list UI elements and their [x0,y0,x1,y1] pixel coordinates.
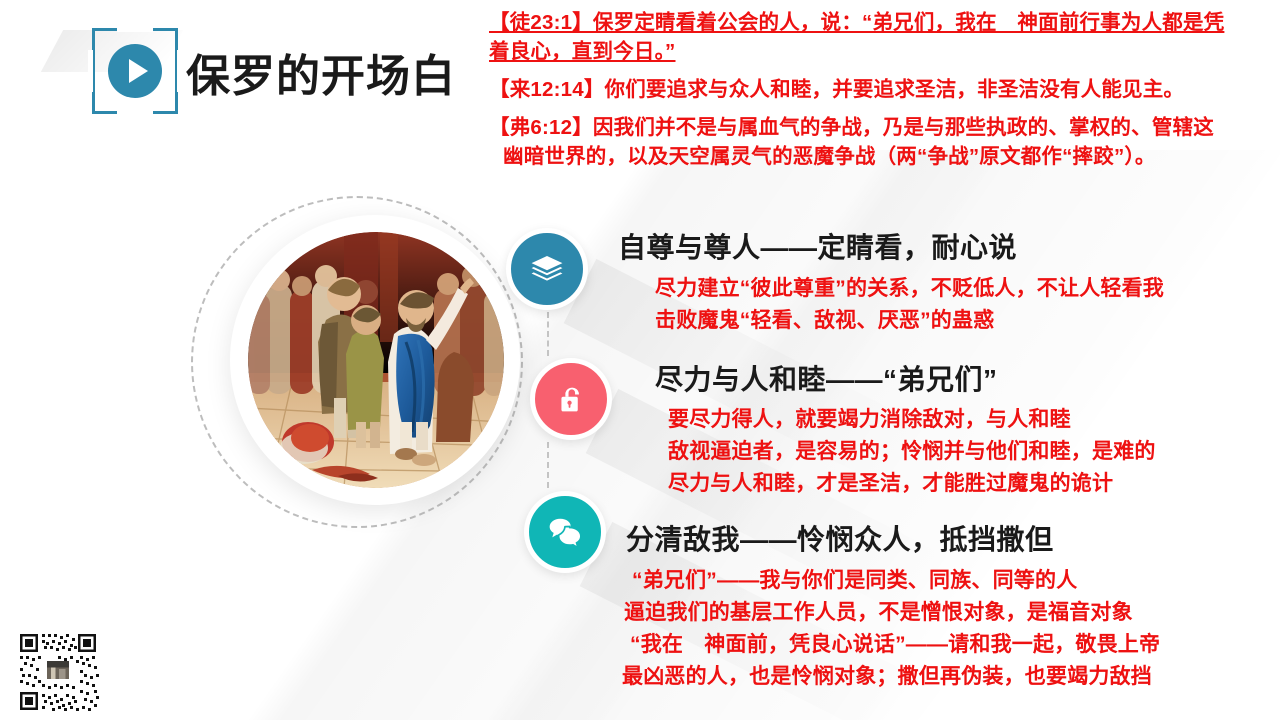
qr-code-icon[interactable] [14,628,102,716]
speech-bubbles-icon[interactable] [524,491,606,573]
feature-3-body: “弟兄们”——我与你们是同类、同族、同等的人 逼迫我们的基层工作人员，不是憎恨对… [632,567,1160,695]
connector-1-2 [547,312,549,356]
layers-icon[interactable] [506,228,588,310]
feature-2-heading: 尽力与人和睦——“弟兄们” [655,358,998,398]
logo [92,28,178,114]
play-triangle-icon [129,59,148,83]
feature-2-body: 要尽力得人，就要竭力消除敌对，与人和睦 敌视逼迫者，是容易的；怜悯并与他们和睦，… [668,406,1156,502]
feature-1-body: 尽力建立“彼此尊重”的关系，不贬低人，不让人轻看我 击败魔鬼“轻看、敌视、厌恶”… [655,275,1164,339]
feature-3-heading: 分清敌我——怜悯众人，抵挡撒但 [626,518,1054,558]
connector-2-3 [547,442,549,488]
feature-1-heading: 自尊与尊人——定睛看，耐心说 [618,226,1017,266]
scripture-block: 【徒23:1】保罗定睛看着公会的人，说：“弟兄们，我在 神面前行事为人都是凭 着… [489,8,1274,181]
slide-root: 保罗的开场白 【徒23:1】保罗定睛看着公会的人，说：“弟兄们，我在 神面前行事… [0,0,1280,720]
play-button-icon [108,44,162,98]
page-title: 保罗的开场白 [186,40,456,104]
scripture-ephesians: 【弗6:12】因我们并不是与属血气的争战，乃是与那些执政的、掌权的、管辖这 幽暗… [489,113,1274,171]
illustration-paul-before-council [248,232,504,488]
scripture-acts: 【徒23:1】保罗定睛看着公会的人，说：“弟兄们，我在 神面前行事为人都是凭 着… [489,8,1274,66]
scripture-hebrews: 【来12:14】你们要追求与众人和睦，并要追求圣洁，非圣洁没有人能见主。 [489,75,1274,104]
unlock-icon[interactable] [530,358,612,440]
